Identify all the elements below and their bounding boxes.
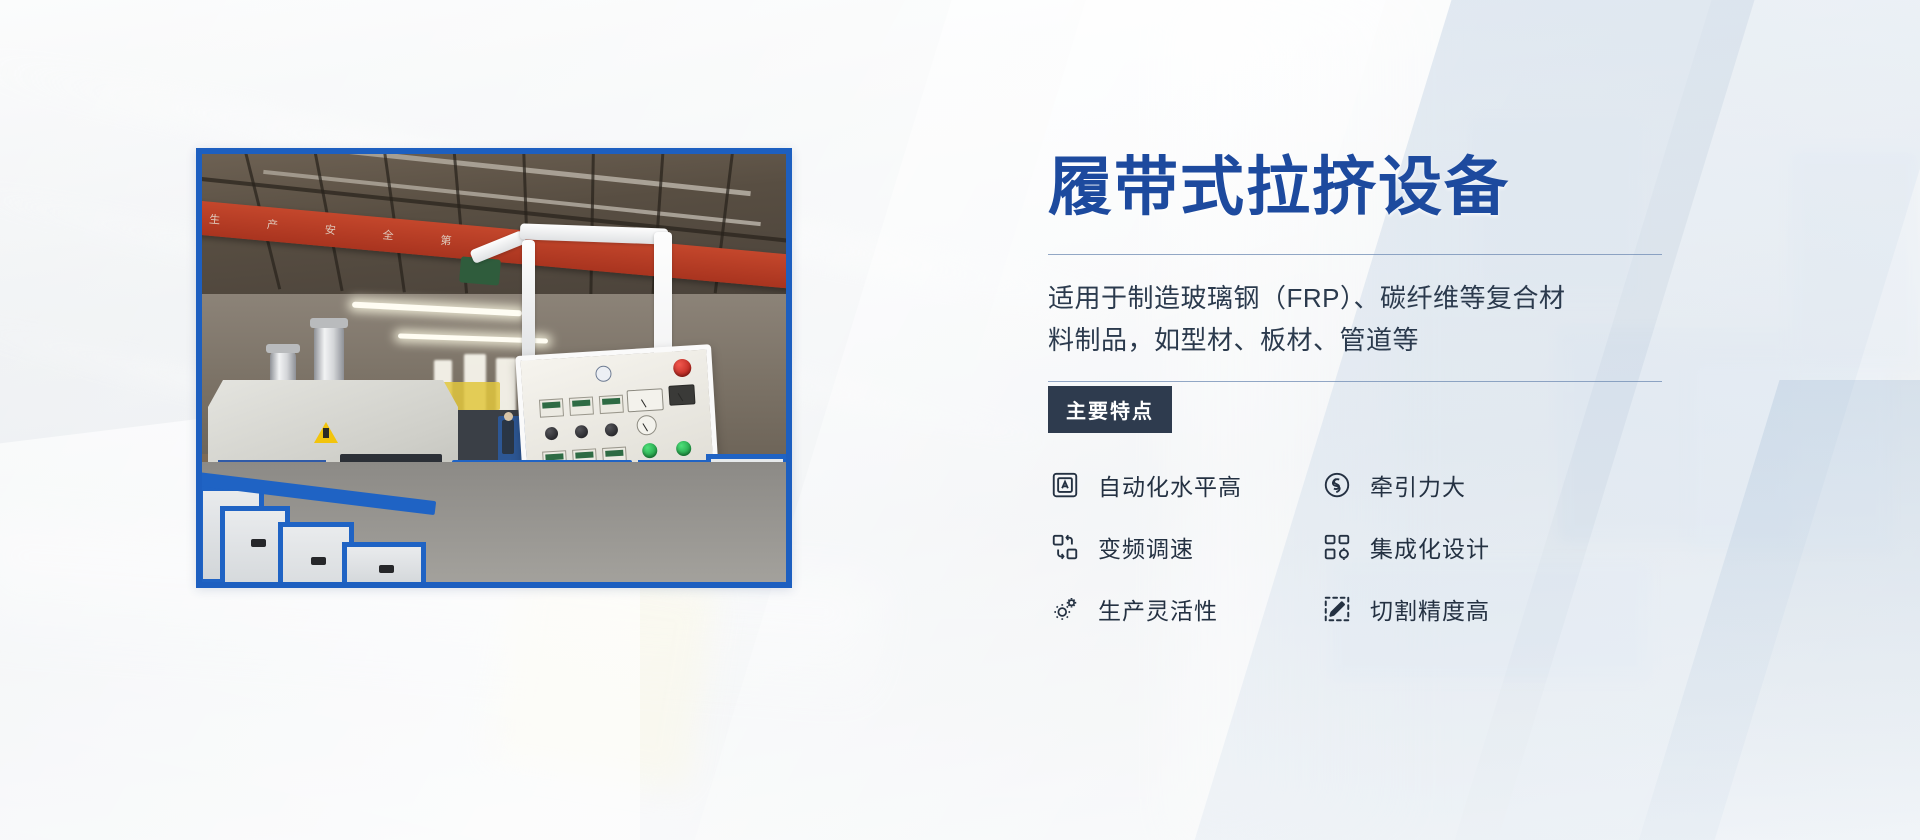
traction-icon (1320, 468, 1354, 502)
photo-gantry-post (522, 240, 535, 370)
gears-icon (1048, 592, 1082, 626)
photo-emergency-stop (673, 358, 692, 377)
photo-worker (504, 412, 513, 421)
photo-cylinder-cap (310, 318, 348, 328)
photo-cylinder-cap (266, 344, 300, 353)
status-badge: 主要特点 (1048, 386, 1172, 433)
title-divider (1048, 254, 1662, 255)
feature-label: 切割精度高 (1370, 592, 1490, 626)
feature-list: 自动化水平高 牵引力大 (1048, 468, 1668, 626)
integration-icon (1320, 530, 1354, 564)
automation-icon (1048, 468, 1082, 502)
feature-item-integration: 集成化设计 (1320, 530, 1592, 564)
feature-row: 生产灵活性 切割精度高 (1048, 592, 1668, 626)
product-banner: 生 产 安 全 第 一 (0, 0, 1920, 840)
feature-label: 牵引力大 (1370, 468, 1466, 502)
feature-item-frequency: 变频调速 (1048, 530, 1320, 564)
photo-worker (502, 420, 514, 454)
photo-warning-label (314, 422, 338, 443)
feature-item-traction: 牵引力大 (1320, 468, 1592, 502)
feature-label: 自动化水平高 (1098, 468, 1242, 502)
feature-row: 自动化水平高 牵引力大 (1048, 468, 1668, 502)
feature-label: 集成化设计 (1370, 530, 1490, 564)
feature-row: 变频调速 集成化设计 (1048, 530, 1668, 564)
feature-item-flexibility: 生产灵活性 (1048, 592, 1320, 626)
badge-row: 主要特点 (1048, 382, 1708, 426)
subtitle-line-2: 料制品，如型材、板材、管道等 (1048, 319, 1668, 361)
subtitle: 适用于制造玻璃钢（FRP）、碳纤维等复合材 料制品，如型材、板材、管道等 (1048, 277, 1668, 361)
cutting-icon (1320, 592, 1354, 626)
feature-label: 变频调速 (1098, 530, 1194, 564)
product-photo: 生 产 安 全 第 一 (196, 148, 792, 588)
feature-item-cutting: 切割精度高 (1320, 592, 1592, 626)
banner-content: 履带式拉挤设备 适用于制造玻璃钢（FRP）、碳纤维等复合材 料制品，如型材、板材… (1048, 150, 1708, 654)
subtitle-line-1: 适用于制造玻璃钢（FRP）、碳纤维等复合材 (1048, 277, 1668, 319)
feature-label: 生产灵活性 (1098, 592, 1218, 626)
photo-cabinet (342, 542, 426, 588)
frequency-icon (1048, 530, 1082, 564)
page-title: 履带式拉挤设备 (1048, 150, 1708, 226)
feature-item-automation: 自动化水平高 (1048, 468, 1320, 502)
